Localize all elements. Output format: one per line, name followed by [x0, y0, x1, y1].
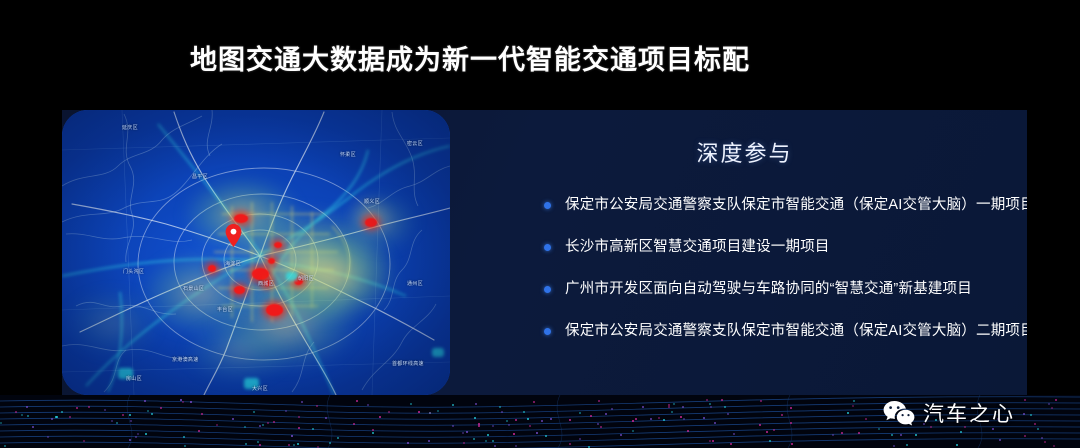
band-dot: [285, 410, 287, 412]
band-dot: [253, 411, 255, 413]
map-district-label: 海淀区: [225, 260, 241, 267]
band-dot: [466, 431, 468, 433]
band-dot: [76, 407, 78, 409]
band-dot: [730, 443, 732, 445]
band-dot: [598, 400, 600, 402]
map-district-label: 丰台区: [217, 306, 233, 313]
band-dot: [437, 410, 439, 412]
band-dot: [906, 444, 908, 446]
band-dot: [1037, 428, 1039, 430]
band-dot: [316, 405, 318, 407]
band-dot: [791, 443, 793, 445]
band-dot: [15, 411, 17, 413]
band-dot: [485, 440, 487, 442]
map-district-label: 密云区: [407, 140, 423, 147]
band-dot: [69, 416, 71, 418]
bullet-dot-icon: [544, 286, 551, 293]
band-dot: [494, 445, 496, 447]
band-dot: [956, 444, 958, 446]
band-dot: [712, 440, 714, 442]
content-panel: 延庆区昌平区怀柔区密云区顺义区海淀区门头沟区石景山区西城区朝阳区通州区丰台区房山…: [62, 110, 1027, 395]
band-dot: [160, 407, 162, 409]
section-heading: 深度参与: [462, 136, 1027, 168]
map-district-label: 房山区: [126, 375, 142, 382]
project-bullet-list: 保定市公安局交通警察支队保定市智能交通（保定AI交管大脑）一期项目长沙市高新区智…: [544, 196, 1024, 364]
map-district-label: 门头沟区: [123, 268, 144, 275]
band-dot: [298, 427, 300, 429]
band-dot: [760, 400, 762, 402]
band-dot: [773, 429, 775, 431]
band-dot: [579, 412, 581, 414]
map-district-label: 大兴区: [252, 385, 268, 392]
band-dot: [32, 426, 34, 428]
band-dot: [297, 443, 299, 445]
map-district-label: 昌平区: [192, 173, 208, 180]
band-dot: [600, 426, 602, 428]
band-dot: [21, 414, 23, 416]
band-dot: [790, 407, 792, 409]
band-dot: [579, 438, 581, 440]
band-dot: [474, 417, 476, 419]
band-dot: [513, 433, 515, 435]
band-dot: [658, 417, 660, 419]
band-dot: [671, 411, 673, 413]
project-bullet-item: 长沙市高新区智慧交通项目建设一期项目: [544, 238, 1024, 280]
band-dot: [506, 420, 508, 422]
map-district-label: 延庆区: [122, 124, 138, 131]
bullet-dot-icon: [544, 202, 551, 209]
band-dot: [47, 436, 49, 438]
band-dot: [841, 432, 843, 434]
band-dot: [727, 413, 729, 415]
band-dot: [129, 439, 131, 441]
band-dot: [379, 416, 381, 418]
band-dot: [144, 400, 146, 402]
right-column: 深度参与 保定市公安局交通警察支队保定市智能交通（保定AI交管大脑）一期项目长沙…: [462, 110, 1027, 395]
watermark-text: 汽车之心: [923, 398, 1015, 428]
band-dot: [682, 406, 684, 408]
band-dot: [891, 434, 893, 436]
band-dot: [27, 415, 29, 417]
watermark: 汽车之心: [883, 398, 1015, 428]
map-district-label: 京港澳高速: [172, 356, 199, 363]
band-dot: [452, 425, 454, 427]
band-dot: [475, 403, 477, 405]
band-dot: [590, 415, 592, 417]
band-dot: [88, 406, 90, 408]
band-dot: [129, 414, 131, 416]
band-dot: [372, 429, 374, 431]
band-dot: [262, 424, 264, 426]
band-dot: [766, 431, 768, 433]
band-dot: [232, 418, 234, 420]
band-dot: [709, 403, 711, 405]
band-dot: [492, 425, 494, 427]
band-dot: [588, 446, 590, 448]
map-card[interactable]: 延庆区昌平区怀柔区密云区顺义区海淀区门头沟区石景山区西城区朝阳区通州区丰台区房山…: [62, 110, 450, 395]
band-dot: [733, 433, 735, 435]
map-district-label: 首都环线高速: [392, 360, 424, 367]
band-dot: [683, 418, 685, 420]
band-dot: [428, 440, 430, 442]
band-dot: [55, 416, 57, 418]
band-dot: [878, 428, 880, 430]
band-dot: [709, 440, 711, 442]
band-dot: [650, 418, 652, 420]
band-dot: [329, 442, 331, 444]
band-dot: [429, 412, 431, 414]
band-dot: [642, 406, 644, 408]
band-dot: [632, 420, 634, 422]
project-bullet-text: 保定市公安局交通警察支队保定市智能交通（保定AI交管大脑）一期项目: [565, 196, 1027, 215]
band-dot: [487, 434, 489, 436]
map-district-label: 顺义区: [364, 198, 380, 205]
bullet-dot-icon: [544, 244, 551, 251]
project-bullet-item: 保定市公安局交通警察支队保定市智能交通（保定AI交管大脑）二期项目: [544, 322, 1024, 364]
band-dot: [147, 410, 149, 412]
band-dot: [288, 444, 290, 446]
project-bullet-text: 保定市公安局交通警察支队保定市智能交通（保定AI交管大脑）二期项目: [565, 322, 1027, 341]
slide-root: 地图交通大数据成为新一代智能交通项目标配: [0, 0, 1080, 448]
band-dot: [216, 424, 218, 426]
band-dot: [611, 408, 613, 410]
band-dot: [673, 403, 675, 405]
band-dot: [259, 444, 261, 446]
band-dot: [523, 411, 525, 413]
band-dot: [298, 416, 300, 418]
project-bullet-item: 保定市公安局交通警察支队保定市智能交通（保定AI交管大脑）一期项目: [544, 196, 1024, 238]
project-bullet-item: 广州市开发区面向自动驾驶与车路协同的“智慧交通”新基建项目: [544, 280, 1024, 322]
band-dot: [769, 440, 771, 442]
map-district-label: 怀柔区: [340, 151, 356, 158]
band-dot: [858, 432, 860, 434]
band-dot: [1044, 441, 1046, 443]
page-title: 地图交通大数据成为新一代智能交通项目标配: [190, 38, 750, 77]
band-dot: [832, 434, 834, 436]
band-dot: [145, 433, 147, 435]
band-dot: [182, 401, 184, 403]
map-district-label: 西城区: [258, 280, 274, 287]
band-dot: [790, 422, 792, 424]
map-district-label: 石景山区: [183, 285, 204, 292]
wechat-icon: [883, 400, 915, 427]
band-dot: [478, 425, 480, 427]
project-bullet-text: 长沙市高新区智慧交通项目建设一期项目: [565, 238, 830, 257]
band-dot: [960, 431, 962, 433]
band-dot: [492, 440, 494, 442]
map-district-label: 朝阳区: [298, 275, 314, 282]
map-district-label: 通州区: [407, 280, 423, 287]
band-dot: [0, 422, 2, 424]
band-dot: [367, 404, 369, 406]
map-vignette: [62, 110, 450, 395]
band-dot: [687, 430, 689, 432]
project-bullet-text: 广州市开发区面向自动驾驶与车路协同的“智慧交通”新基建项目: [565, 280, 972, 299]
bullet-dot-icon: [544, 328, 551, 335]
band-dot: [668, 406, 670, 408]
band-dot: [545, 435, 547, 437]
band-dot: [4, 445, 6, 447]
